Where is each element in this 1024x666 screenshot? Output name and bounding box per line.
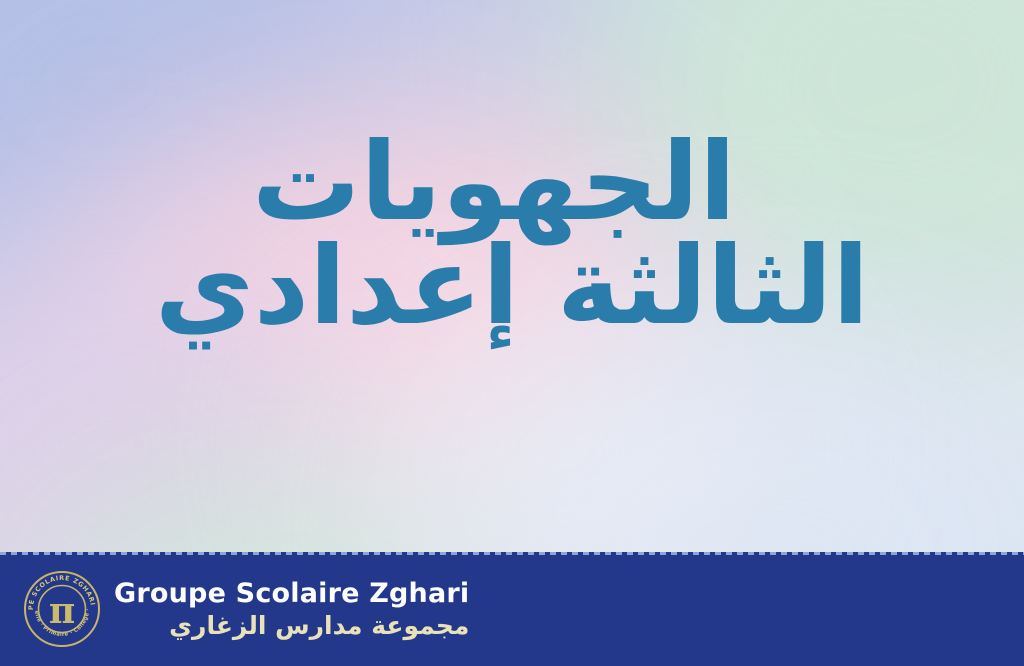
svg-text:π: π bbox=[49, 590, 75, 632]
banner-top-dashed-border bbox=[0, 552, 1024, 555]
brand-text-block: Groupe Scolaire Zghari مجموعة مدارس الزغ… bbox=[114, 577, 469, 642]
title-line-2: الثالثة إعدادي bbox=[0, 232, 1024, 342]
title-line-1: الجهويات bbox=[0, 128, 1024, 238]
brand-banner: GROUPE SCOLAIRE ZGHARI PRIVÉ Maternelle … bbox=[0, 552, 1024, 666]
slide-canvas: الجهويات الثالثة إعدادي GROUPE SCOLAIRE … bbox=[0, 0, 1024, 666]
brand-name-french: Groupe Scolaire Zghari bbox=[114, 579, 469, 609]
slide-title: الجهويات الثالثة إعدادي bbox=[0, 128, 1024, 342]
school-logo: GROUPE SCOLAIRE ZGHARI PRIVÉ Maternelle … bbox=[22, 569, 102, 649]
brand-name-arabic: مجموعة مدارس الزغاري bbox=[114, 611, 469, 641]
